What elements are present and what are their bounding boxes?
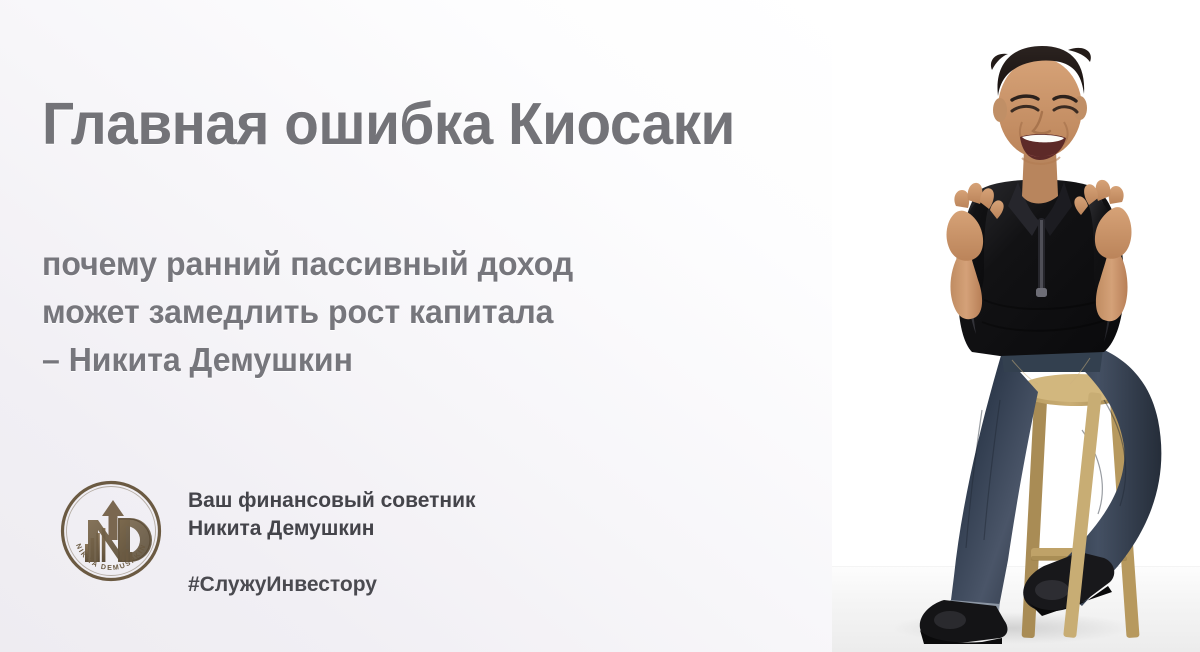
advisor-title: Ваш финансовый советник Никита Демушкин [188,487,476,543]
brand-logo: NIKITA DEMUSHKIN [58,478,164,584]
subtitle-line-1: почему ранний пассивный доход [42,240,779,288]
person-photo [832,0,1200,652]
brand-block: NIKITA DEMUSHKIN Ваш финансовый советник… [58,478,476,597]
subtitle-line-2: может замедлить рост капитала [42,288,779,336]
page-title: Главная ошибка Киосаки [42,93,800,156]
photo-panel [832,0,1200,652]
brand-text: Ваш финансовый советник Никита Демушкин … [188,478,476,597]
promo-banner: Главная ошибка Киосаки почему ранний пас… [0,0,1200,652]
text-panel: Главная ошибка Киосаки почему ранний пас… [0,0,832,652]
advisor-line-2: Никита Демушкин [188,515,476,543]
subtitle-line-3: – Никита Демушкин [42,336,779,384]
advisor-line-1: Ваш финансовый советник [188,487,476,515]
hashtag: #СлужуИнвестору [188,573,476,597]
subtitle-block: почему ранний пассивный доход может заме… [42,240,779,385]
